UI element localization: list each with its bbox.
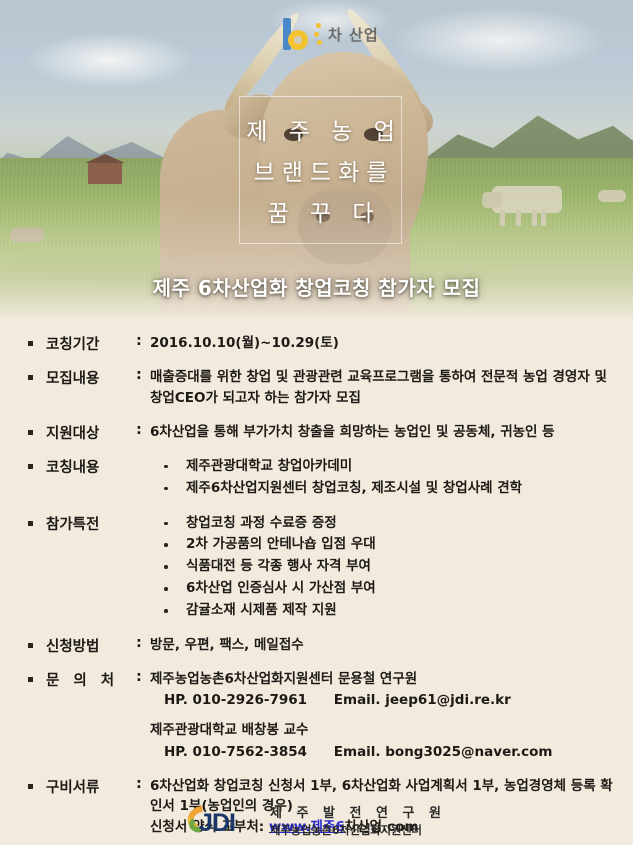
jdi-logo-text: JDI	[199, 809, 235, 838]
label-recruitment-details: 모집내용	[46, 367, 136, 388]
square-bullet-icon	[28, 430, 33, 435]
value-coaching-period: 2016.10.10(월)~10.29(토)	[148, 333, 615, 354]
row-coaching-period: 코칭기간 : 2016.10.10(월)~10.29(토)	[28, 333, 615, 354]
colon-eligibility: :	[136, 422, 148, 438]
brand-logo: 차 산업	[283, 18, 379, 50]
hero-slogan-line-2: 브랜드화를	[247, 153, 395, 187]
contact-phone-1: HP. 010-2926-7961	[164, 692, 307, 708]
label-coaching-period: 코칭기간	[46, 333, 136, 354]
background-cow-far-right	[598, 190, 626, 202]
colon-recruitment-details: :	[136, 367, 148, 383]
label-application-method: 신청방법	[46, 635, 136, 656]
square-bullet-icon	[28, 341, 33, 346]
value-eligibility: 6차산업을 통해 부가가치 창출을 희망하는 농업인 및 공동체, 귀농인 등	[148, 422, 615, 443]
label-contact: 문 의 처	[46, 669, 136, 690]
brand-logo-text: 차 산업	[326, 24, 379, 45]
square-bullet-icon	[28, 521, 33, 526]
square-bullet-icon	[28, 464, 33, 469]
colon-application-method: :	[136, 635, 148, 651]
list-participant-benefits: 창업코칭 과정 수료증 증정 2차 가공품의 안테나숍 입점 우대 식품대전 등…	[150, 513, 615, 622]
list-item: 2차 가공품의 안테나숍 입점 우대	[160, 534, 615, 556]
row-participant-benefits: 참가특전 창업코칭 과정 수료증 증정 2차 가공품의 안테나숍 입점 우대 식…	[28, 513, 615, 622]
row-recruitment-details: 모집내용 : 매출증대를 위한 창업 및 관광관련 교육프로그램을 통하여 전문…	[28, 367, 615, 409]
hero-slogan-line-1: 제 주 농 업	[239, 112, 402, 146]
hero-banner: 차 산업 제 주 농 업 브랜드화를 꿈 꾸 다	[0, 0, 633, 317]
row-eligibility: 지원대상 : 6차산업을 통해 부가가치 창출을 희망하는 농업인 및 공동체,…	[28, 422, 615, 443]
list-item: 제주관광대학교 창업아카데미	[160, 456, 615, 478]
value-recruitment-details: 매출증대를 위한 창업 및 관광관련 교육프로그램을 통하여 전문적 농업 경영…	[148, 367, 615, 409]
hero-slogan-line-3: 꿈 꾸 다	[260, 194, 380, 228]
contact-org-2: 제주관광대학교 배창봉 교수	[150, 720, 615, 742]
contact-phone-2: HP. 010-7562-3854	[164, 744, 307, 760]
footer: JDI 제 주 발 전 연 구 원 제주농업농촌6차산업화지원센터	[0, 806, 633, 837]
footer-institute-name: 제 주 발 전 연 구 원	[270, 806, 446, 822]
colon-required-documents: :	[136, 776, 148, 792]
hero-slogan-box: 제 주 농 업 브랜드화를 꿈 꾸 다	[239, 96, 402, 244]
label-participant-benefits: 참가특전	[46, 513, 136, 534]
colon-contact: :	[136, 669, 148, 685]
list-item: 감귤소재 시제품 제작 지원	[160, 600, 615, 622]
square-bullet-icon	[28, 677, 33, 682]
list-item: 6차산업 인증심사 시 가산점 부여	[160, 578, 615, 600]
b-mark-icon	[283, 18, 311, 50]
value-application-method: 방문, 우편, 팩스, 메일접수	[148, 635, 615, 656]
contact-email-1[interactable]: Email. jeep61@jdi.re.kr	[334, 692, 511, 708]
row-application-method: 신청방법 : 방문, 우편, 팩스, 메일접수	[28, 635, 615, 656]
square-bullet-icon	[28, 643, 33, 648]
label-eligibility: 지원대상	[46, 422, 136, 443]
row-contact: 문 의 처 : 제주농업농촌6차산업화지원센터 문용철 연구원 HP. 010-…	[28, 669, 615, 763]
list-item: 식품대전 등 각종 행사 자격 부여	[160, 556, 615, 578]
label-required-documents: 구비서류	[46, 776, 136, 797]
list-item: 창업코칭 과정 수료증 증정	[160, 513, 615, 535]
colon-coaching-period: :	[136, 333, 148, 349]
page-title: 제주 6차산업화 창업코칭 참가자 모집	[0, 272, 633, 301]
logo-dots-icon	[314, 21, 323, 47]
row-coaching-content: 코칭내용 제주관광대학교 창업아카데미 제주6차산업지원센터 창업코칭, 제조시…	[28, 456, 615, 500]
square-bullet-icon	[28, 784, 33, 789]
hero-barn	[88, 162, 122, 184]
contact-email-2[interactable]: Email. bong3025@naver.com	[334, 744, 553, 760]
contact-org-1: 제주농업농촌6차산업화지원센터 문용철 연구원	[150, 669, 615, 691]
square-bullet-icon	[28, 375, 33, 380]
list-coaching-content: 제주관광대학교 창업아카데미 제주6차산업지원센터 창업코칭, 제조시설 및 창…	[150, 456, 615, 500]
footer-organization: 제 주 발 전 연 구 원 제주농업농촌6차산업화지원센터	[270, 806, 446, 837]
jdi-logo-icon: JDI	[187, 807, 261, 837]
list-item: 제주6차산업지원센터 창업코칭, 제조시설 및 창업사례 견학	[160, 478, 615, 500]
poster-body: 코칭기간 : 2016.10.10(월)~10.29(토) 모집내용 : 매출증…	[0, 317, 633, 845]
background-cow-left	[10, 228, 44, 242]
label-coaching-content: 코칭내용	[46, 456, 136, 477]
footer-center-name: 제주농업농촌6차산업화지원센터	[270, 823, 446, 837]
